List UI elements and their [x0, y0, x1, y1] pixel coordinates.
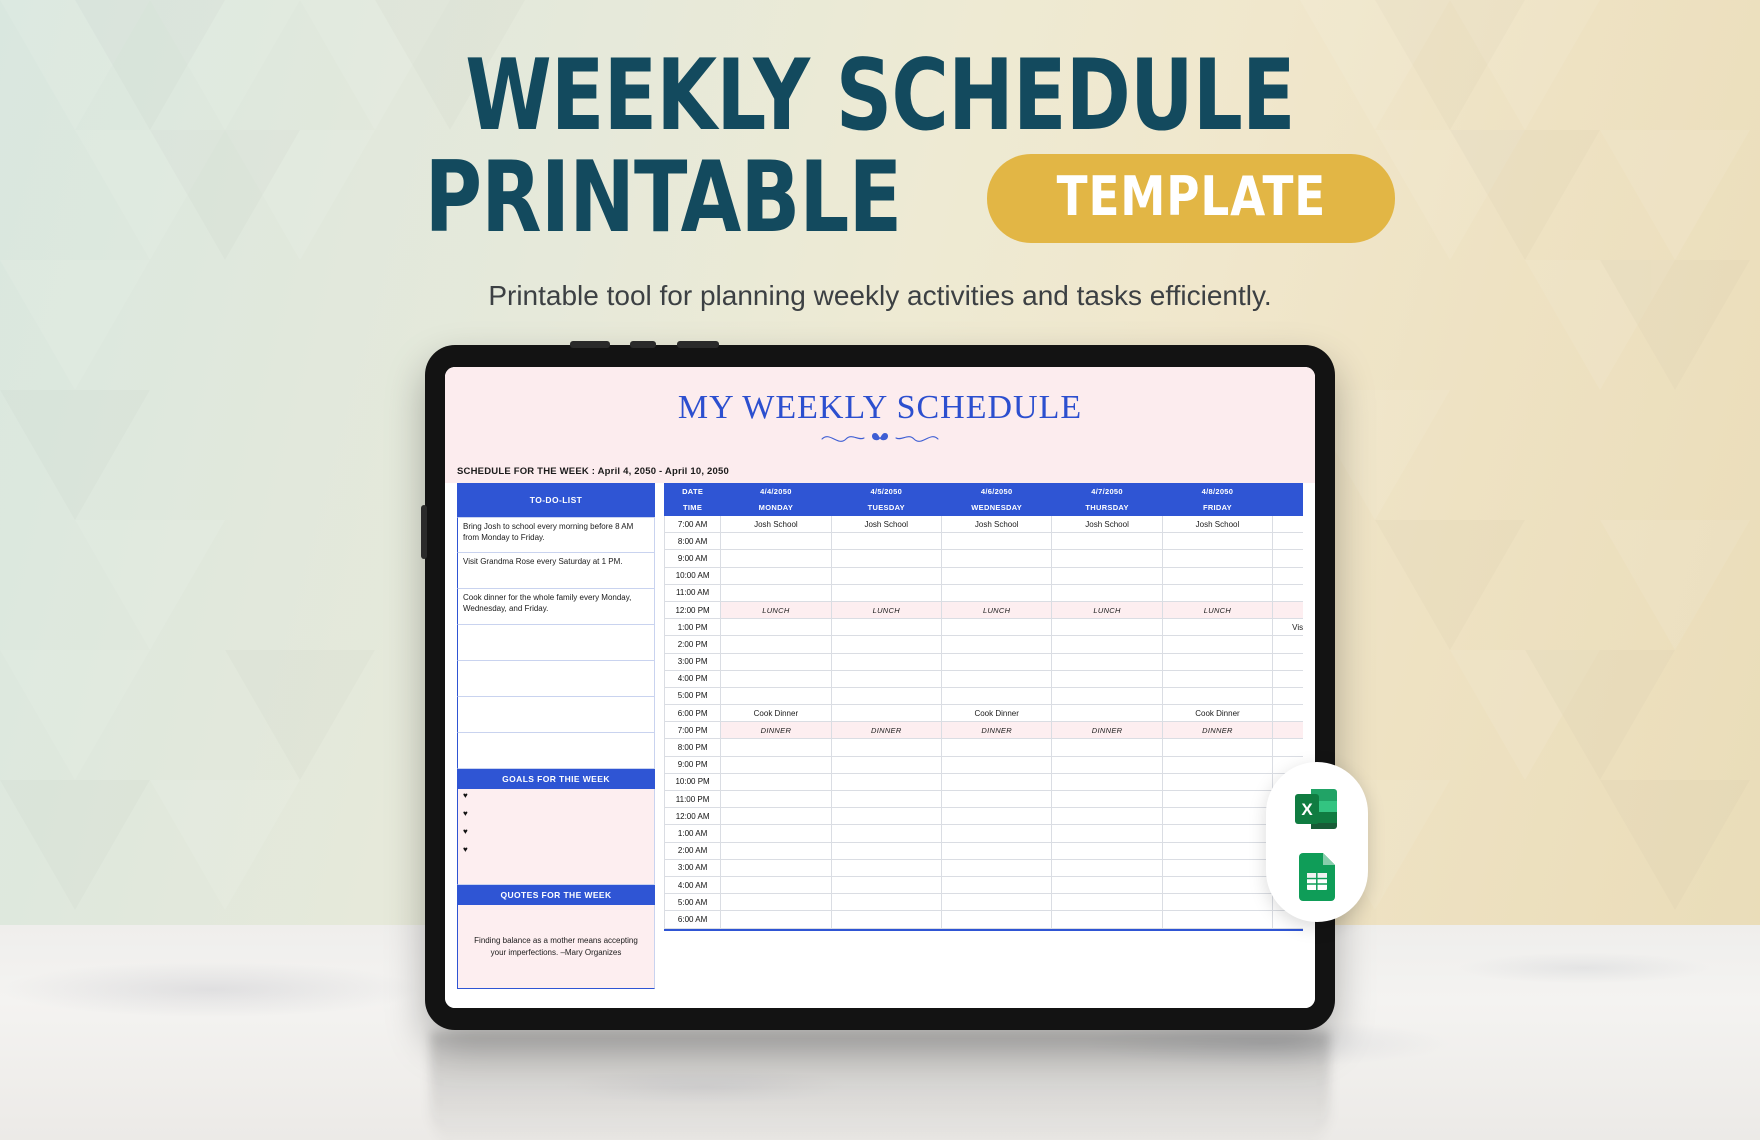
goal-item-1[interactable]: ♥ — [457, 789, 655, 807]
schedule-cell[interactable] — [831, 653, 941, 670]
goals-header: GOALS FOR THIE WEEK — [457, 769, 655, 789]
schedule-cell[interactable] — [1162, 911, 1272, 928]
schedule-cell[interactable] — [1052, 825, 1162, 842]
schedule-cell[interactable] — [831, 584, 941, 601]
schedule-cell[interactable] — [721, 894, 831, 911]
schedule-cell[interactable] — [941, 808, 1051, 825]
schedule-row: 9:00 AM — [665, 550, 1304, 567]
schedule-cell[interactable]: DINNER — [1273, 722, 1303, 739]
schedule-cell[interactable] — [941, 670, 1051, 687]
header-day-1: MONDAY — [721, 500, 831, 516]
goal-item-4[interactable]: ♥ — [457, 843, 655, 861]
schedule-cell[interactable] — [1273, 653, 1303, 670]
schedule-cell[interactable] — [1162, 773, 1272, 790]
schedule-cell[interactable] — [721, 859, 831, 876]
time-cell: 4:00 PM — [665, 670, 721, 687]
tablet-volume-up-button[interactable] — [570, 341, 610, 348]
header-row-dates: DATE4/4/20504/5/20504/6/20504/7/20504/8/… — [665, 484, 1304, 500]
schedule-row: 4:00 PM — [665, 670, 1304, 687]
schedule-cell[interactable] — [1162, 808, 1272, 825]
tablet-side-button[interactable] — [421, 505, 427, 559]
schedule-cell[interactable] — [831, 550, 941, 567]
time-cell: 7:00 AM — [665, 516, 721, 533]
schedule-row: 2:00 AM — [665, 842, 1304, 859]
title-line-2: PRINTABLE — [424, 150, 901, 246]
time-cell: 8:00 AM — [665, 533, 721, 550]
schedule-row: 5:00 AM — [665, 894, 1304, 911]
schedule-cell[interactable]: DINNER — [831, 722, 941, 739]
todo-item-5[interactable] — [457, 661, 655, 697]
schedule-cell[interactable] — [721, 550, 831, 567]
schedule-cell[interactable] — [721, 808, 831, 825]
schedule-row: 1:00 AM — [665, 825, 1304, 842]
schedule-row: 6:00 AM — [665, 911, 1304, 928]
header-day-6: SATURDAY — [1273, 500, 1303, 516]
header-row-days: TIMEMONDAYTUESDAYWEDNESDAYTHURSDAYFRIDAY… — [665, 500, 1304, 516]
schedule-cell[interactable] — [1162, 739, 1272, 756]
title-line-1: WEEKLY SCHEDULE — [176, 0, 1584, 144]
schedule-row: 8:00 PM — [665, 739, 1304, 756]
todo-list-header: TO-DO-LIST — [457, 483, 655, 517]
todo-item-4[interactable] — [457, 625, 655, 661]
schedule-cell[interactable]: DINNER — [1052, 722, 1162, 739]
schedule-cell[interactable]: LUNCH — [831, 601, 941, 618]
schedule-row: 8:00 AM — [665, 533, 1304, 550]
schedule-cell[interactable] — [1052, 705, 1162, 722]
schedule-cell[interactable]: LUNCH — [1052, 601, 1162, 618]
schedule-cell[interactable] — [941, 911, 1051, 928]
header-date-3: 4/6/2050 — [941, 484, 1051, 500]
schedule-row: 12:00 AM — [665, 808, 1304, 825]
schedule-cell[interactable] — [1273, 670, 1303, 687]
schedule-cell[interactable] — [1273, 636, 1303, 653]
schedule-row: 3:00 AM — [665, 859, 1304, 876]
quote-text: Finding balance as a mother means accept… — [457, 905, 655, 989]
schedule-cell[interactable]: DINNER — [721, 722, 831, 739]
tablet-volume-down-button[interactable] — [630, 341, 656, 348]
schedule-table-wrapper: DATE4/4/20504/5/20504/6/20504/7/20504/8/… — [664, 483, 1303, 989]
time-cell: 2:00 AM — [665, 842, 721, 859]
schedule-cell[interactable] — [1052, 894, 1162, 911]
schedule-cell[interactable] — [1052, 739, 1162, 756]
time-cell: 1:00 PM — [665, 619, 721, 636]
svg-text:X: X — [1301, 800, 1313, 819]
header-time-label: TIME — [665, 500, 721, 516]
schedule-cell[interactable] — [1162, 533, 1272, 550]
schedule-cell[interactable] — [831, 773, 941, 790]
schedule-cell[interactable] — [941, 876, 1051, 893]
time-cell: 12:00 PM — [665, 601, 721, 618]
schedule-cell[interactable]: DINNER — [941, 722, 1051, 739]
week-range-label: SCHEDULE FOR THE WEEK : April 4, 2050 - … — [457, 466, 729, 477]
todo-item-6[interactable] — [457, 697, 655, 733]
schedule-cell[interactable] — [721, 567, 831, 584]
todo-item-2[interactable]: Visit Grandma Rose every Saturday at 1 P… — [457, 553, 655, 589]
schedule-row: 4:00 AM — [665, 876, 1304, 893]
schedule-cell[interactable] — [721, 584, 831, 601]
schedule-cell[interactable] — [831, 825, 941, 842]
schedule-cell[interactable] — [1162, 859, 1272, 876]
schedule-cell[interactable] — [1052, 911, 1162, 928]
promo-header: WEEKLY SCHEDULE PRINTABLE TEMPLATE Print… — [0, 0, 1760, 312]
title-row-2: PRINTABLE TEMPLATE — [0, 150, 1760, 246]
header-date-label: DATE — [665, 484, 721, 500]
schedule-cell[interactable] — [721, 653, 831, 670]
schedule-cell[interactable] — [1162, 876, 1272, 893]
schedule-cell[interactable] — [831, 687, 941, 704]
schedule-cell[interactable] — [1162, 842, 1272, 859]
goal-item-empty[interactable] — [457, 861, 655, 885]
schedule-row: 2:00 PM — [665, 636, 1304, 653]
schedule-cell[interactable] — [831, 636, 941, 653]
schedule-cell[interactable] — [721, 687, 831, 704]
goal-item-2[interactable]: ♥ — [457, 807, 655, 825]
time-cell: 6:00 AM — [665, 911, 721, 928]
schedule-cell[interactable] — [721, 791, 831, 808]
header-day-4: THURSDAY — [1052, 500, 1162, 516]
schedule-row: 7:00 AMJosh SchoolJosh SchoolJosh School… — [665, 516, 1304, 533]
schedule-cell[interactable] — [1273, 705, 1303, 722]
schedule-cell[interactable]: LUNCH — [721, 601, 831, 618]
todo-item-3[interactable]: Cook dinner for the whole family every M… — [457, 589, 655, 625]
time-cell: 3:00 PM — [665, 653, 721, 670]
schedule-cell[interactable]: Cook Dinner — [721, 705, 831, 722]
schedule-cell[interactable] — [1273, 739, 1303, 756]
schedule-cell[interactable] — [831, 859, 941, 876]
schedule-cell[interactable] — [721, 876, 831, 893]
schedule-cell[interactable] — [831, 705, 941, 722]
schedule-cell[interactable] — [941, 533, 1051, 550]
schedule-cell[interactable] — [831, 533, 941, 550]
schedule-cell[interactable]: Josh School — [941, 516, 1051, 533]
schedule-row: 7:00 PMDINNERDINNERDINNERDINNERDINNERDIN… — [665, 722, 1304, 739]
schedule-cell[interactable] — [941, 791, 1051, 808]
schedule-cell[interactable] — [1162, 894, 1272, 911]
schedule-cell[interactable]: Josh School — [1052, 516, 1162, 533]
schedule-cell[interactable] — [1162, 550, 1272, 567]
schedule-cell[interactable] — [1052, 687, 1162, 704]
schedule-cell[interactable]: Josh School — [1273, 516, 1303, 533]
schedule-cell[interactable] — [1052, 859, 1162, 876]
table-bottom-border — [664, 929, 1303, 931]
schedule-row: 11:00 PM — [665, 791, 1304, 808]
schedule-cell[interactable]: LUNCH — [1162, 601, 1272, 618]
schedule-cell[interactable] — [1273, 687, 1303, 704]
time-cell: 11:00 PM — [665, 791, 721, 808]
schedule-cell[interactable] — [1273, 584, 1303, 601]
tablet-screen: MY WEEKLY SCHEDULE SCHEDULE FOR THE WEEK… — [445, 367, 1315, 1008]
template-badge-label: TEMPLATE — [1056, 170, 1325, 224]
schedule-cell[interactable] — [831, 756, 941, 773]
schedule-cell[interactable] — [941, 842, 1051, 859]
schedule-cell[interactable] — [1052, 773, 1162, 790]
schedule-cell[interactable]: Cook Dinner — [1162, 705, 1272, 722]
excel-file-icon[interactable]: X — [1291, 783, 1343, 835]
goal-item-3[interactable]: ♥ — [457, 825, 655, 843]
schedule-cell[interactable] — [831, 876, 941, 893]
todo-item-7[interactable] — [457, 733, 655, 769]
header-date-6: 4/9/2050 — [1273, 484, 1303, 500]
schedule-cell[interactable]: Josh School — [831, 516, 941, 533]
schedule-cell[interactable] — [721, 739, 831, 756]
schedule-cell[interactable] — [1052, 533, 1162, 550]
time-cell: 1:00 AM — [665, 825, 721, 842]
schedule-cell[interactable] — [721, 619, 831, 636]
time-cell: 10:00 AM — [665, 567, 721, 584]
todo-list-rows: Bring Josh to school every morning befor… — [457, 517, 655, 769]
schedule-cell[interactable] — [831, 739, 941, 756]
spreadsheet-document: MY WEEKLY SCHEDULE SCHEDULE FOR THE WEEK… — [445, 367, 1315, 1008]
schedule-row: 3:00 PM — [665, 653, 1304, 670]
schedule-cell[interactable] — [1273, 533, 1303, 550]
schedule-cell[interactable] — [831, 619, 941, 636]
schedule-cell[interactable] — [831, 894, 941, 911]
time-cell: 10:00 PM — [665, 773, 721, 790]
schedule-cell[interactable] — [1162, 636, 1272, 653]
schedule-cell[interactable] — [831, 791, 941, 808]
schedule-cell[interactable] — [941, 567, 1051, 584]
time-cell: 12:00 AM — [665, 808, 721, 825]
schedule-table-body: 7:00 AMJosh SchoolJosh SchoolJosh School… — [665, 516, 1304, 929]
ornament-flourish-icon — [445, 429, 1315, 449]
spreadsheet-title-banner: MY WEEKLY SCHEDULE SCHEDULE FOR THE WEEK… — [445, 367, 1315, 483]
header-date-5: 4/8/2050 — [1162, 484, 1272, 500]
schedule-cell[interactable] — [721, 911, 831, 928]
schedule-cell[interactable] — [941, 894, 1051, 911]
schedule-cell[interactable] — [1162, 687, 1272, 704]
schedule-cell[interactable] — [941, 773, 1051, 790]
schedule-cell[interactable] — [721, 842, 831, 859]
schedule-cell[interactable] — [941, 687, 1051, 704]
file-format-badge: X — [1266, 762, 1368, 922]
header-date-4: 4/7/2050 — [1052, 484, 1162, 500]
schedule-cell[interactable] — [721, 756, 831, 773]
schedule-cell[interactable] — [1052, 842, 1162, 859]
schedule-cell[interactable]: Visit Grandma Rose — [1273, 619, 1303, 636]
schedule-cell[interactable] — [1052, 584, 1162, 601]
schedule-cell[interactable] — [1052, 653, 1162, 670]
schedule-cell[interactable] — [831, 808, 941, 825]
schedule-cell[interactable]: Josh School — [721, 516, 831, 533]
schedule-cell[interactable] — [1162, 619, 1272, 636]
schedule-row: 11:00 AM — [665, 584, 1304, 601]
schedule-cell[interactable] — [1052, 791, 1162, 808]
sheet-content-grid: TO-DO-LIST Bring Josh to school every mo… — [445, 483, 1315, 989]
schedule-cell[interactable] — [941, 825, 1051, 842]
schedule-cell[interactable] — [941, 619, 1051, 636]
schedule-cell[interactable]: DINNER — [1162, 722, 1272, 739]
time-cell: 5:00 PM — [665, 687, 721, 704]
schedule-cell[interactable]: Josh School — [1162, 516, 1272, 533]
time-cell: 8:00 PM — [665, 739, 721, 756]
schedule-cell[interactable] — [1162, 756, 1272, 773]
left-panel: TO-DO-LIST Bring Josh to school every mo… — [457, 483, 655, 989]
schedule-row: 12:00 PMLUNCHLUNCHLUNCHLUNCHLUNCHLUNCHLU… — [665, 601, 1304, 618]
todo-item-1[interactable]: Bring Josh to school every morning befor… — [457, 517, 655, 553]
schedule-cell[interactable] — [941, 584, 1051, 601]
schedule-cell[interactable]: Cook Dinner — [941, 705, 1051, 722]
schedule-table-head: DATE4/4/20504/5/20504/6/20504/7/20504/8/… — [665, 484, 1304, 516]
schedule-cell[interactable] — [1052, 567, 1162, 584]
schedule-cell[interactable] — [721, 825, 831, 842]
time-cell: 11:00 AM — [665, 584, 721, 601]
schedule-cell[interactable] — [1273, 567, 1303, 584]
time-cell: 7:00 PM — [665, 722, 721, 739]
schedule-cell[interactable] — [1052, 636, 1162, 653]
quotes-header: QUOTES FOR THE WEEK — [457, 885, 655, 905]
schedule-cell[interactable] — [721, 636, 831, 653]
schedule-cell[interactable] — [831, 842, 941, 859]
header-day-3: WEDNESDAY — [941, 500, 1051, 516]
header-date-1: 4/4/2050 — [721, 484, 831, 500]
schedule-cell[interactable] — [1162, 567, 1272, 584]
schedule-row: 9:00 PM — [665, 756, 1304, 773]
header-day-5: FRIDAY — [1162, 500, 1272, 516]
schedule-cell[interactable] — [721, 533, 831, 550]
spreadsheet-title: MY WEEKLY SCHEDULE — [445, 389, 1315, 427]
schedule-cell[interactable] — [721, 773, 831, 790]
time-cell: 9:00 AM — [665, 550, 721, 567]
schedule-cell[interactable] — [831, 911, 941, 928]
tablet-device-frame: MY WEEKLY SCHEDULE SCHEDULE FOR THE WEEK… — [425, 345, 1335, 1030]
schedule-cell[interactable] — [1162, 791, 1272, 808]
header-day-2: TUESDAY — [831, 500, 941, 516]
schedule-row: 6:00 PMCook DinnerCook DinnerCook Dinner — [665, 705, 1304, 722]
goals-rows: ♥♥♥♥ — [457, 789, 655, 885]
schedule-cell[interactable]: LUNCH — [1273, 601, 1303, 618]
time-cell: 5:00 AM — [665, 894, 721, 911]
google-sheets-file-icon[interactable] — [1291, 849, 1343, 901]
tablet-power-button[interactable] — [677, 341, 719, 348]
schedule-cell[interactable] — [1052, 876, 1162, 893]
schedule-cell[interactable] — [941, 653, 1051, 670]
time-cell: 2:00 PM — [665, 636, 721, 653]
time-cell: 4:00 AM — [665, 876, 721, 893]
schedule-cell[interactable] — [1162, 670, 1272, 687]
schedule-cell[interactable] — [941, 636, 1051, 653]
schedule-table: DATE4/4/20504/5/20504/6/20504/7/20504/8/… — [664, 483, 1303, 929]
schedule-cell[interactable] — [941, 859, 1051, 876]
schedule-row: 1:00 PMVisit Grandma Rose — [665, 619, 1304, 636]
time-cell: 9:00 PM — [665, 756, 721, 773]
schedule-cell[interactable] — [1273, 550, 1303, 567]
schedule-cell[interactable] — [1052, 670, 1162, 687]
header-date-2: 4/5/2050 — [831, 484, 941, 500]
schedule-cell[interactable] — [1162, 825, 1272, 842]
schedule-cell[interactable] — [1162, 653, 1272, 670]
schedule-cell[interactable] — [1052, 550, 1162, 567]
schedule-cell[interactable] — [831, 567, 941, 584]
schedule-cell[interactable] — [831, 670, 941, 687]
schedule-cell[interactable] — [1052, 808, 1162, 825]
schedule-cell[interactable] — [941, 550, 1051, 567]
schedule-cell[interactable] — [941, 739, 1051, 756]
schedule-cell[interactable] — [941, 756, 1051, 773]
schedule-cell[interactable] — [1162, 584, 1272, 601]
schedule-row: 5:00 PM — [665, 687, 1304, 704]
schedule-row: 10:00 PM — [665, 773, 1304, 790]
schedule-cell[interactable] — [1052, 619, 1162, 636]
schedule-cell[interactable] — [721, 670, 831, 687]
schedule-cell[interactable] — [1052, 756, 1162, 773]
schedule-row: 10:00 AM — [665, 567, 1304, 584]
promo-subtitle: Printable tool for planning weekly activ… — [0, 280, 1760, 312]
time-cell: 3:00 AM — [665, 859, 721, 876]
template-badge: TEMPLATE — [987, 154, 1396, 243]
schedule-cell[interactable]: LUNCH — [941, 601, 1051, 618]
time-cell: 6:00 PM — [665, 705, 721, 722]
